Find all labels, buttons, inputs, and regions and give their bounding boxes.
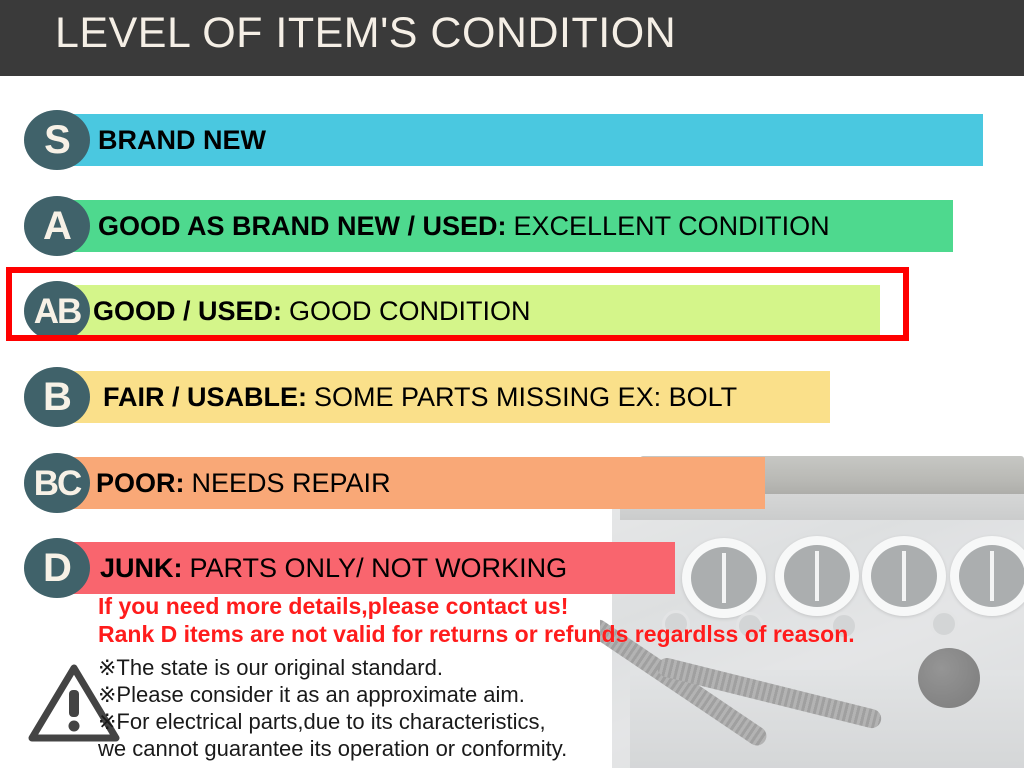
notice-black-line: ※Please consider it as an approximate ai…: [98, 681, 855, 708]
rank-lead-text: BRAND NEW: [98, 125, 266, 156]
header-bar: LEVEL OF ITEM'S CONDITION: [0, 0, 1024, 76]
rank-label-s: BRAND NEW: [98, 110, 273, 170]
rank-tail-text: PARTS ONLY/ NOT WORKING: [183, 553, 568, 584]
rank-label-bc: POOR: NEEDS REPAIR: [96, 453, 391, 513]
engine-intake-port: [950, 536, 1024, 616]
rank-label-ab: GOOD / USED: GOOD CONDITION: [93, 281, 531, 341]
rank-lead-text: POOR:: [96, 468, 185, 499]
engine-intake-port: [862, 536, 946, 616]
notice-black-line: ※The state is our original standard.: [98, 654, 855, 681]
rank-badge-b: B: [24, 367, 90, 427]
rank-label-d: JUNK: PARTS ONLY/ NOT WORKING: [100, 538, 567, 598]
rank-badge-label: S: [44, 120, 70, 160]
rank-badge-label: AB: [34, 294, 81, 329]
notice-black-group: ※The state is our original standard. ※Pl…: [98, 654, 855, 762]
rank-lead-text: GOOD AS BRAND NEW / USED:: [98, 211, 507, 242]
rank-badge-label: B: [43, 377, 71, 417]
engine-bolt-boss: [930, 610, 958, 638]
rank-label-a: GOOD AS BRAND NEW / USED: EXCELLENT COND…: [98, 196, 830, 256]
rank-tail-text: NEEDS REPAIR: [185, 468, 391, 499]
rank-badge-label: A: [43, 206, 71, 246]
rank-tail-text: SOME PARTS MISSING EX: BOLT: [307, 382, 737, 413]
rank-badge-a: A: [24, 196, 90, 256]
rank-badge-bc: BC: [24, 453, 90, 513]
notice-red-line: Rank D items are not valid for returns o…: [98, 620, 855, 648]
rank-tail-text: EXCELLENT CONDITION: [507, 211, 830, 242]
rank-badge-d: D: [24, 538, 90, 598]
rank-lead-text: JUNK:: [100, 553, 183, 584]
notice-black-line: we cannot guarantee its operation or con…: [98, 735, 855, 762]
notice-block: If you need more details,please contact …: [98, 592, 855, 762]
engine-round-cap: [918, 648, 980, 708]
rank-lead-text: FAIR / USABLE:: [103, 382, 307, 413]
rank-badge-s: S: [24, 110, 90, 170]
notice-red-line: If you need more details,please contact …: [98, 592, 855, 620]
page-title: LEVEL OF ITEM'S CONDITION: [55, 9, 676, 58]
rank-badge-label: BC: [34, 466, 81, 501]
rank-tail-text: GOOD CONDITION: [282, 296, 531, 327]
rank-lead-text: GOOD / USED:: [93, 296, 282, 327]
notice-black-line: ※For electrical parts,due to its charact…: [98, 708, 855, 735]
rank-label-b: FAIR / USABLE: SOME PARTS MISSING EX: BO…: [103, 367, 737, 427]
rank-badge-ab: AB: [24, 281, 90, 341]
rank-badge-label: D: [43, 548, 71, 588]
